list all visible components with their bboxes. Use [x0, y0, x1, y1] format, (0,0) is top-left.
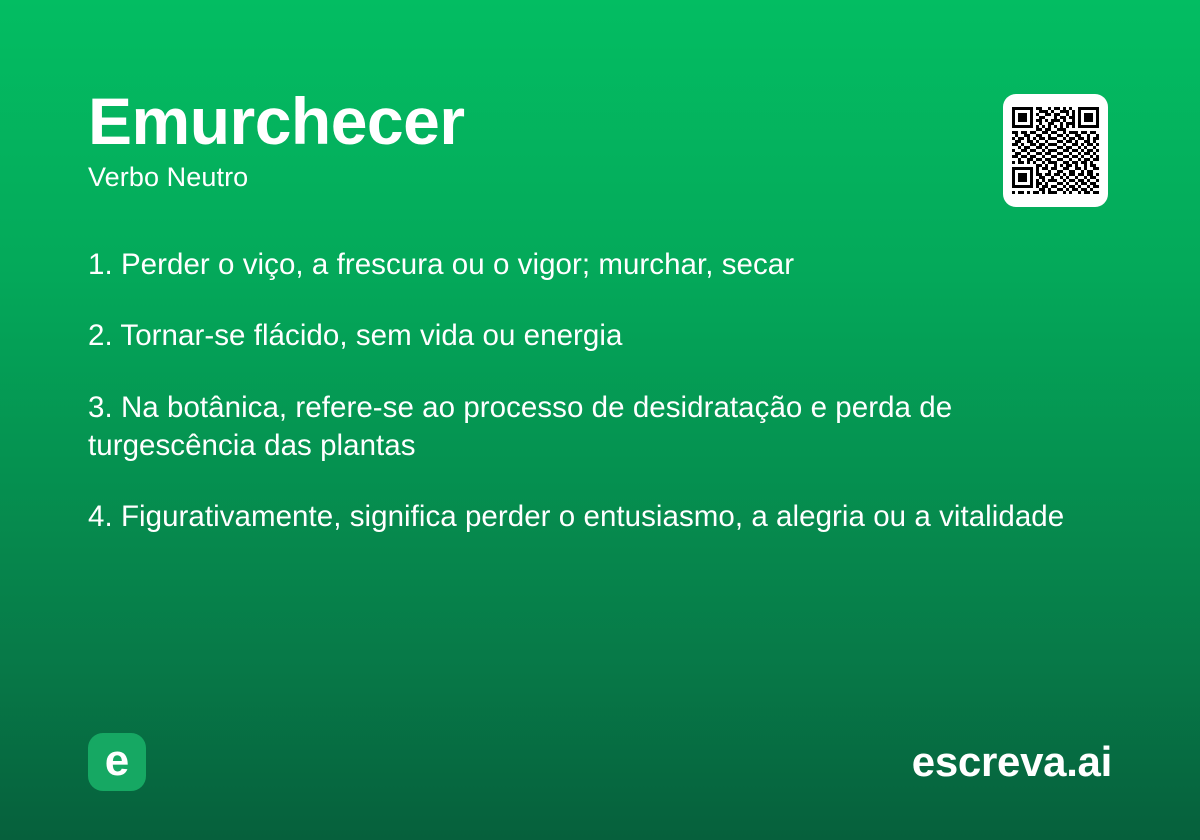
word-class-label: Verbo Neutro [88, 163, 1112, 193]
definition-item: 4. Figurativamente, significa perder o e… [88, 498, 1108, 536]
qr-code-icon [1012, 107, 1099, 194]
definition-item: 1. Perder o viço, a frescura ou o vigor;… [88, 246, 1108, 284]
escreva-logo-icon: e [88, 733, 146, 791]
brand-wordmark: escreva.ai [912, 741, 1112, 783]
card-header: Emurchecer Verbo Neutro [88, 88, 1112, 193]
logo-letter: e [105, 739, 129, 783]
definition-item: 3. Na botânica, refere-se ao processo de… [88, 389, 1108, 466]
qr-code-card[interactable] [1003, 94, 1108, 207]
page-title: Emurchecer [88, 88, 1112, 155]
card-footer: e escreva.ai [88, 732, 1112, 792]
definition-item: 2. Tornar-se flácido, sem vida ou energi… [88, 317, 1108, 355]
definition-list: 1. Perder o viço, a frescura ou o vigor;… [88, 246, 1108, 537]
dictionary-card: Emurchecer Verbo Neutro 1. Perder o viço… [0, 0, 1200, 840]
